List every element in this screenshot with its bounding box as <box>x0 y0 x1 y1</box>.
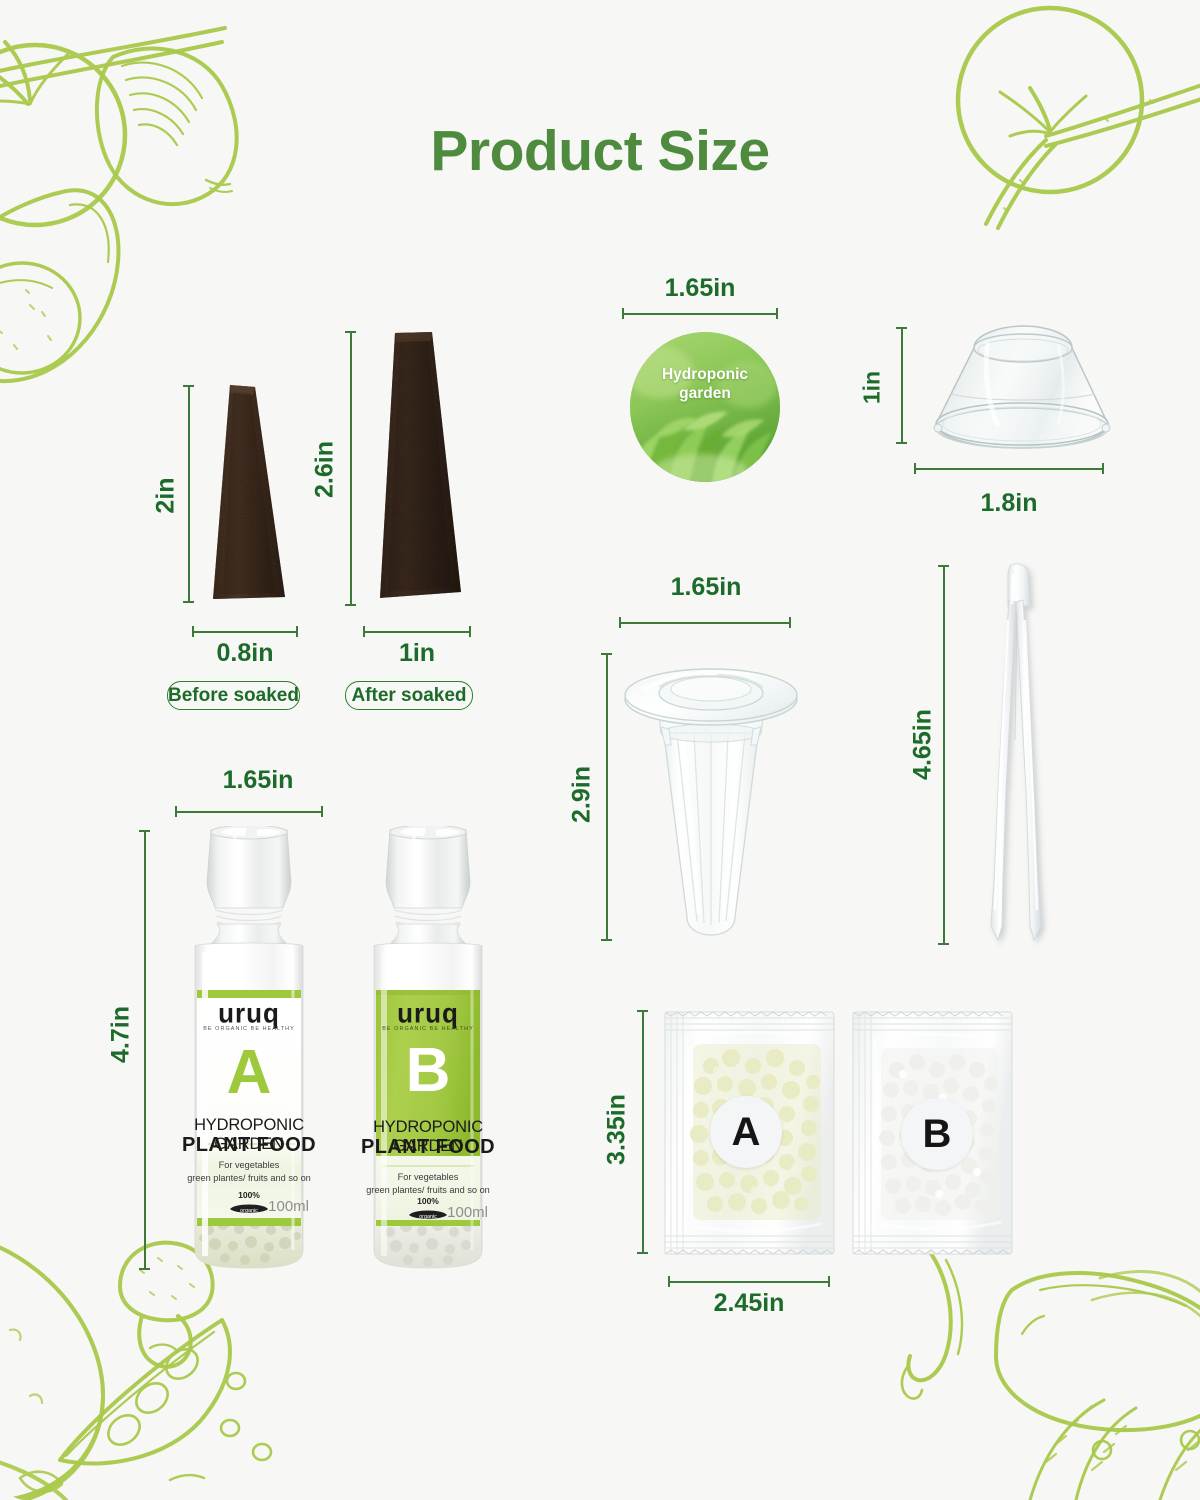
tweezers-height-bar <box>938 565 949 945</box>
netpot-width-label: 1.65in <box>621 573 791 602</box>
bottle-a-fine-line-2: green plantes/ fruits and so on <box>187 1173 311 1183</box>
bottle-a-volume: 100ml <box>268 1198 309 1215</box>
sponge-before-height-bar <box>183 385 194 603</box>
dome-height-bar <box>896 327 907 444</box>
badge-before-soaked: Before soaked <box>167 681 300 710</box>
netpot-width-bar <box>619 617 791 628</box>
bottle-a-letter: A <box>173 1042 325 1104</box>
tweezers-image <box>968 560 1068 950</box>
bottle-b-fine-line-2: green plantes/ fruits and so on <box>366 1185 490 1195</box>
bottle-b-letter: B <box>352 1040 504 1102</box>
sachet-height-bar <box>637 1010 648 1254</box>
dome-lid-image <box>912 320 1132 455</box>
asparagus-doodle <box>1030 1400 1200 1500</box>
bottles-width-bar <box>175 806 323 817</box>
bottle-b-subheading: PLANT FOOD <box>352 1136 504 1159</box>
bottles-width-label: 1.65in <box>158 766 358 795</box>
sticker-line-2: garden <box>679 385 731 402</box>
bottle-b-fine-line-1: For vegetables <box>398 1172 459 1182</box>
bottle-b-organic-badge: 100% organic <box>406 1197 450 1227</box>
sticker-width-bar <box>622 308 778 319</box>
swirl-doodle <box>1092 1272 1200 1340</box>
sponge-after-width-label: 1in <box>363 639 471 668</box>
organic-seal-icon: organic <box>227 1201 271 1216</box>
product-size-infographic: Product Size 2in <box>0 0 1200 1500</box>
bottle-b: uruq BE ORGANIC BE HEALTHY B HYDROPONIC … <box>352 826 504 1270</box>
sponge-after-height-bar <box>345 331 356 606</box>
dome-width-bar <box>914 463 1104 474</box>
hydroponic-garden-sticker: Hydroponic garden <box>630 332 780 482</box>
sticker-line-1: Hydroponic <box>662 366 748 383</box>
bottle-a-brand-tagline: BE ORGANIC BE HEALTHY <box>173 1026 325 1032</box>
tweezers-height-label: 4.65in <box>909 690 938 800</box>
organic-seal-icon: organic <box>406 1207 450 1222</box>
dome-height-label: 1in <box>859 358 886 418</box>
sponge-before-width-bar <box>192 626 298 637</box>
sticker-width-label: 1.65in <box>622 274 778 303</box>
sponge-before-height-label: 2in <box>152 461 181 531</box>
sponge-after-width-bar <box>363 626 471 637</box>
svg-text:organic: organic <box>240 1208 258 1214</box>
bottle-b-volume: 100ml <box>447 1204 488 1221</box>
bottle-a-organic-badge: 100% organic <box>227 1191 271 1221</box>
sponge-before-soaked-image <box>203 383 295 605</box>
sachet-a-letter: A <box>710 1096 782 1168</box>
net-pot-basket-image <box>613 645 808 945</box>
badge-after-soaked: After soaked <box>345 681 473 710</box>
sachet-height-label: 3.35in <box>603 1070 632 1190</box>
sachet-a: A <box>663 1008 836 1258</box>
dome-width-label: 1.8in <box>914 489 1104 518</box>
sprout-doodle <box>0 1452 66 1500</box>
page-title: Product Size <box>0 118 1200 184</box>
netpot-height-label: 2.9in <box>568 750 597 840</box>
sponge-after-soaked-image <box>364 330 476 605</box>
sachet-width-label: 2.45in <box>668 1289 830 1318</box>
sponge-before-width-label: 0.8in <box>192 639 298 668</box>
bottles-height-bar <box>139 830 150 1270</box>
bottle-b-organic-pct: 100% <box>406 1197 450 1206</box>
round-vegetable-doodle <box>0 1232 103 1500</box>
pea-pod-doodle <box>60 1320 271 1480</box>
bottle-a-fine-line-1: For vegetables <box>219 1160 280 1170</box>
sachet-b-letter: B <box>901 1098 973 1170</box>
bottle-a-subheading: PLANT FOOD <box>173 1134 325 1157</box>
bottle-a: uruq BE ORGANIC BE HEALTHY A HYDROPONIC … <box>173 826 325 1270</box>
bottles-height-label: 4.7in <box>107 990 136 1080</box>
sticker-text: Hydroponic garden <box>630 366 780 404</box>
bottle-b-brand: uruq <box>352 997 504 1030</box>
sponge-after-height-label: 2.6in <box>311 425 340 515</box>
bottle-b-fineprint: For vegetables green plantes/ fruits and… <box>352 1171 504 1197</box>
eggplant-doodle <box>902 1252 1200 1459</box>
bottle-a-fineprint: For vegetables green plantes/ fruits and… <box>173 1159 325 1185</box>
bottle-a-organic-pct: 100% <box>227 1191 271 1200</box>
bottle-b-brand-tagline: BE ORGANIC BE HEALTHY <box>352 1026 504 1032</box>
bottle-a-brand: uruq <box>173 997 325 1030</box>
sachet-b: B <box>851 1008 1014 1258</box>
avocado-doodle <box>0 190 118 381</box>
netpot-height-bar <box>601 653 612 941</box>
sachet-width-bar <box>668 1276 830 1287</box>
svg-text:organic: organic <box>419 1214 437 1220</box>
